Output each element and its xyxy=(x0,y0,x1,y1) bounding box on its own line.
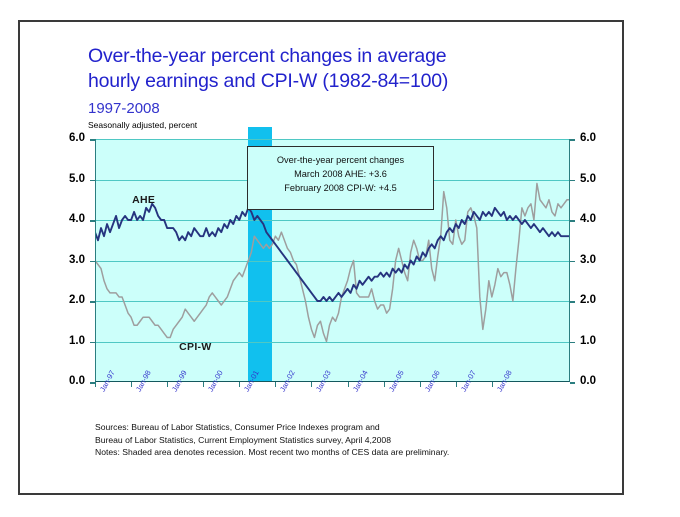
y-tick-mark xyxy=(90,180,95,182)
page-title: Over-the-year percent changes in average… xyxy=(88,44,558,94)
callout-line-1: Over-the-year percent changes xyxy=(248,153,433,167)
series-line-ahe xyxy=(95,204,570,301)
y-tick-mark xyxy=(570,301,575,303)
subtitle-years: 1997-2008 xyxy=(88,100,160,117)
x-tick-mark xyxy=(239,382,240,387)
x-tick-mark xyxy=(384,382,385,387)
y-tick-label: 0.0 xyxy=(580,375,612,387)
footer-line-3: Notes: Shaded area denotes recession. Mo… xyxy=(95,446,585,459)
y-tick-mark xyxy=(570,180,575,182)
y-tick-mark xyxy=(90,301,95,303)
callout-line-2: March 2008 AHE: +3.6 xyxy=(248,167,433,181)
y-tick-mark xyxy=(570,139,575,141)
axis-note: Seasonally adjusted, percent xyxy=(88,120,197,130)
x-tick-mark xyxy=(420,382,421,387)
y-tick-label: 5.0 xyxy=(53,173,85,185)
y-tick-label: 6.0 xyxy=(53,132,85,144)
y-tick-label: 6.0 xyxy=(580,132,612,144)
x-tick-mark xyxy=(311,382,312,387)
x-tick-mark xyxy=(348,382,349,387)
x-tick-mark xyxy=(131,382,132,387)
y-tick-mark xyxy=(90,261,95,263)
x-tick-mark xyxy=(167,382,168,387)
y-tick-label: 2.0 xyxy=(580,294,612,306)
y-tick-label: 3.0 xyxy=(580,254,612,266)
footer-line-2: Bureau of Labor Statistics, Current Empl… xyxy=(95,434,585,447)
footer-notes: Sources: Bureau of Labor Statistics, Con… xyxy=(95,421,585,459)
slide-canvas: Over-the-year percent changes in average… xyxy=(0,0,680,517)
series-label-ahe: AHE xyxy=(132,194,155,206)
y-tick-label: 3.0 xyxy=(53,254,85,266)
y-tick-label: 0.0 xyxy=(53,375,85,387)
series-label-cpiw: CPI-W xyxy=(179,341,211,353)
y-tick-mark xyxy=(570,382,575,384)
y-tick-mark xyxy=(90,139,95,141)
y-tick-label: 2.0 xyxy=(53,294,85,306)
y-tick-label: 1.0 xyxy=(580,335,612,347)
y-tick-mark xyxy=(570,261,575,263)
x-tick-mark xyxy=(492,382,493,387)
y-tick-label: 4.0 xyxy=(53,213,85,225)
x-tick-mark xyxy=(95,382,96,387)
footer-line-1: Sources: Bureau of Labor Statistics, Con… xyxy=(95,421,585,434)
x-tick-mark xyxy=(456,382,457,387)
recession-region-stub xyxy=(248,127,272,139)
y-tick-label: 4.0 xyxy=(580,213,612,225)
y-tick-mark xyxy=(570,342,575,344)
y-tick-mark xyxy=(570,220,575,222)
y-tick-label: 5.0 xyxy=(580,173,612,185)
y-tick-mark xyxy=(90,342,95,344)
y-tick-label: 1.0 xyxy=(53,335,85,347)
x-tick-mark xyxy=(203,382,204,387)
callout-line-3: February 2008 CPI-W: +4.5 xyxy=(248,181,433,195)
x-tick-mark xyxy=(275,382,276,387)
title-line-2: hourly earnings and CPI-W (1982-84=100) xyxy=(88,69,558,94)
title-line-1: Over-the-year percent changes in average xyxy=(88,44,558,69)
callout-box: Over-the-year percent changes March 2008… xyxy=(247,146,434,210)
y-tick-mark xyxy=(90,220,95,222)
